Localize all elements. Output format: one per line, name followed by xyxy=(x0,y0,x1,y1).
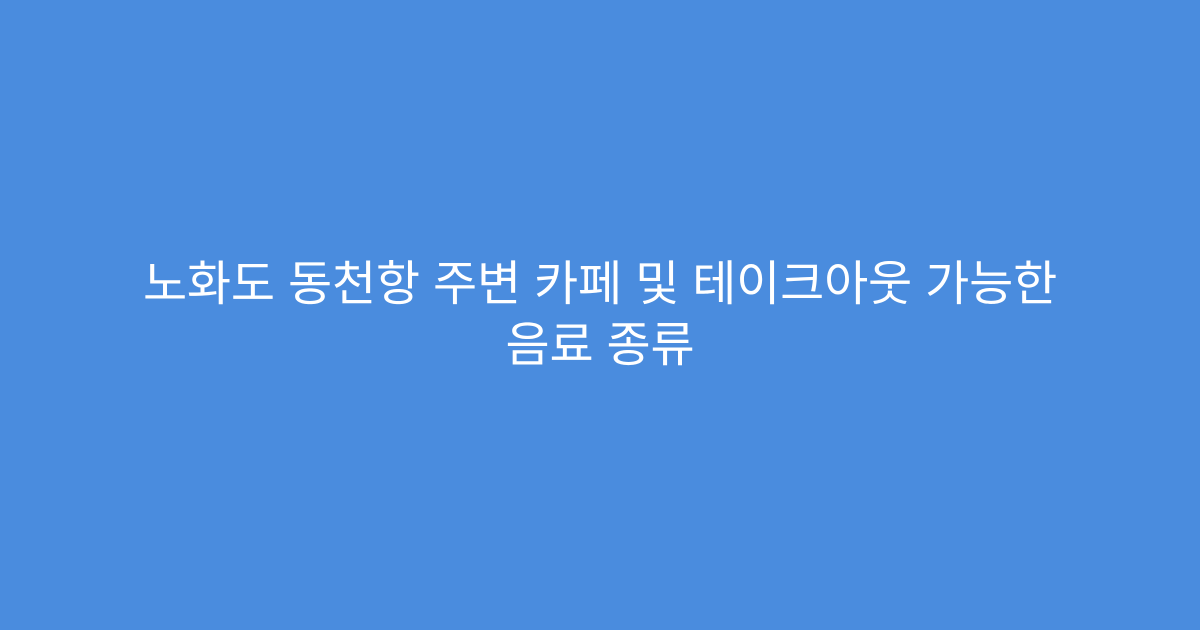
title-block: 노화도 동천항 주변 카페 및 테이크아웃 가능한 음료 종류 xyxy=(85,254,1115,376)
share-card: 노화도 동천항 주변 카페 및 테이크아웃 가능한 음료 종류 xyxy=(0,0,1200,630)
page-title: 노화도 동천항 주변 카페 및 테이크아웃 가능한 음료 종류 xyxy=(95,254,1105,376)
